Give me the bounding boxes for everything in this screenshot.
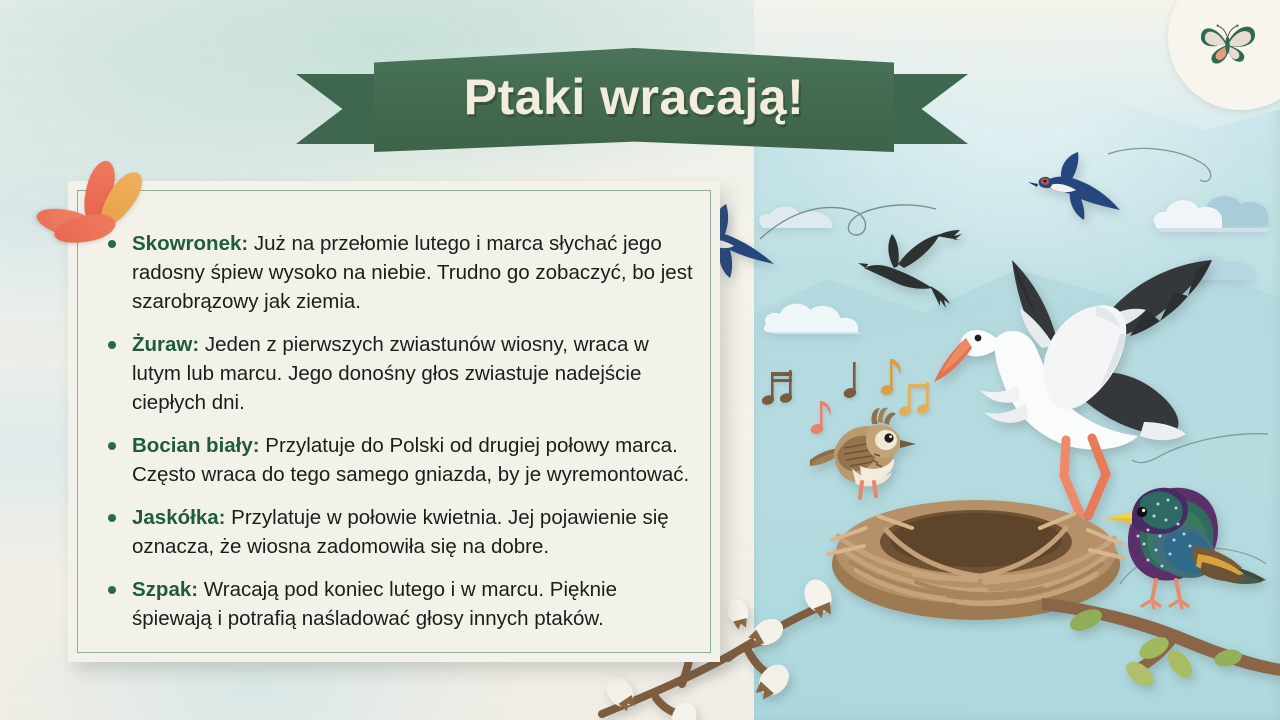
bird-name: Jaskółka: — [132, 506, 225, 529]
slide-canvas: Ptaki wracają! — [0, 0, 1280, 720]
bird-list: Skowronek: Już na przełomie lutego i mar… — [94, 229, 694, 633]
list-item: Jaskółka: Przylatuje w połowie kwietnia.… — [94, 503, 694, 561]
bullet-dot-icon — [108, 341, 116, 349]
bird-description: Wracają pod koniec lutego i w marcu. Pię… — [132, 578, 617, 630]
bullet-dot-icon — [108, 586, 116, 594]
list-item: Bocian biały: Przylatuje do Polski od dr… — [94, 431, 694, 489]
list-item: Szpak: Wracają pod koniec lutego i w mar… — [94, 575, 694, 633]
bird-name: Bocian biały: — [132, 434, 260, 457]
bullet-dot-icon — [108, 442, 116, 450]
page-title: Ptaki wracają! — [464, 68, 805, 126]
swallow-illustration — [1018, 148, 1122, 228]
content-card: Skowronek: Już na przełomie lutego i mar… — [68, 181, 720, 662]
coral-petals-decoration — [46, 158, 156, 254]
starling-illustration — [1098, 476, 1274, 622]
bird-description: Jeden z pierwszych zwiastunów wiosny, wr… — [132, 333, 649, 414]
title-ribbon: Ptaki wracają! — [296, 48, 968, 164]
crested-lark-illustration — [804, 406, 918, 506]
list-item: Skowronek: Już na przełomie lutego i mar… — [94, 229, 694, 316]
flight-path-line — [1106, 144, 1232, 188]
music-note-icon — [840, 360, 864, 402]
butterfly-icon — [1196, 18, 1258, 66]
bird-name: Szpak: — [132, 578, 198, 601]
ribbon-banner: Ptaki wracają! — [374, 48, 894, 152]
music-note-icon — [762, 368, 802, 410]
bullet-dot-icon — [108, 514, 116, 522]
list-item: Żuraw: Jeden z pierwszych zwiastunów wio… — [94, 330, 694, 417]
bird-name: Żuraw: — [132, 333, 199, 356]
